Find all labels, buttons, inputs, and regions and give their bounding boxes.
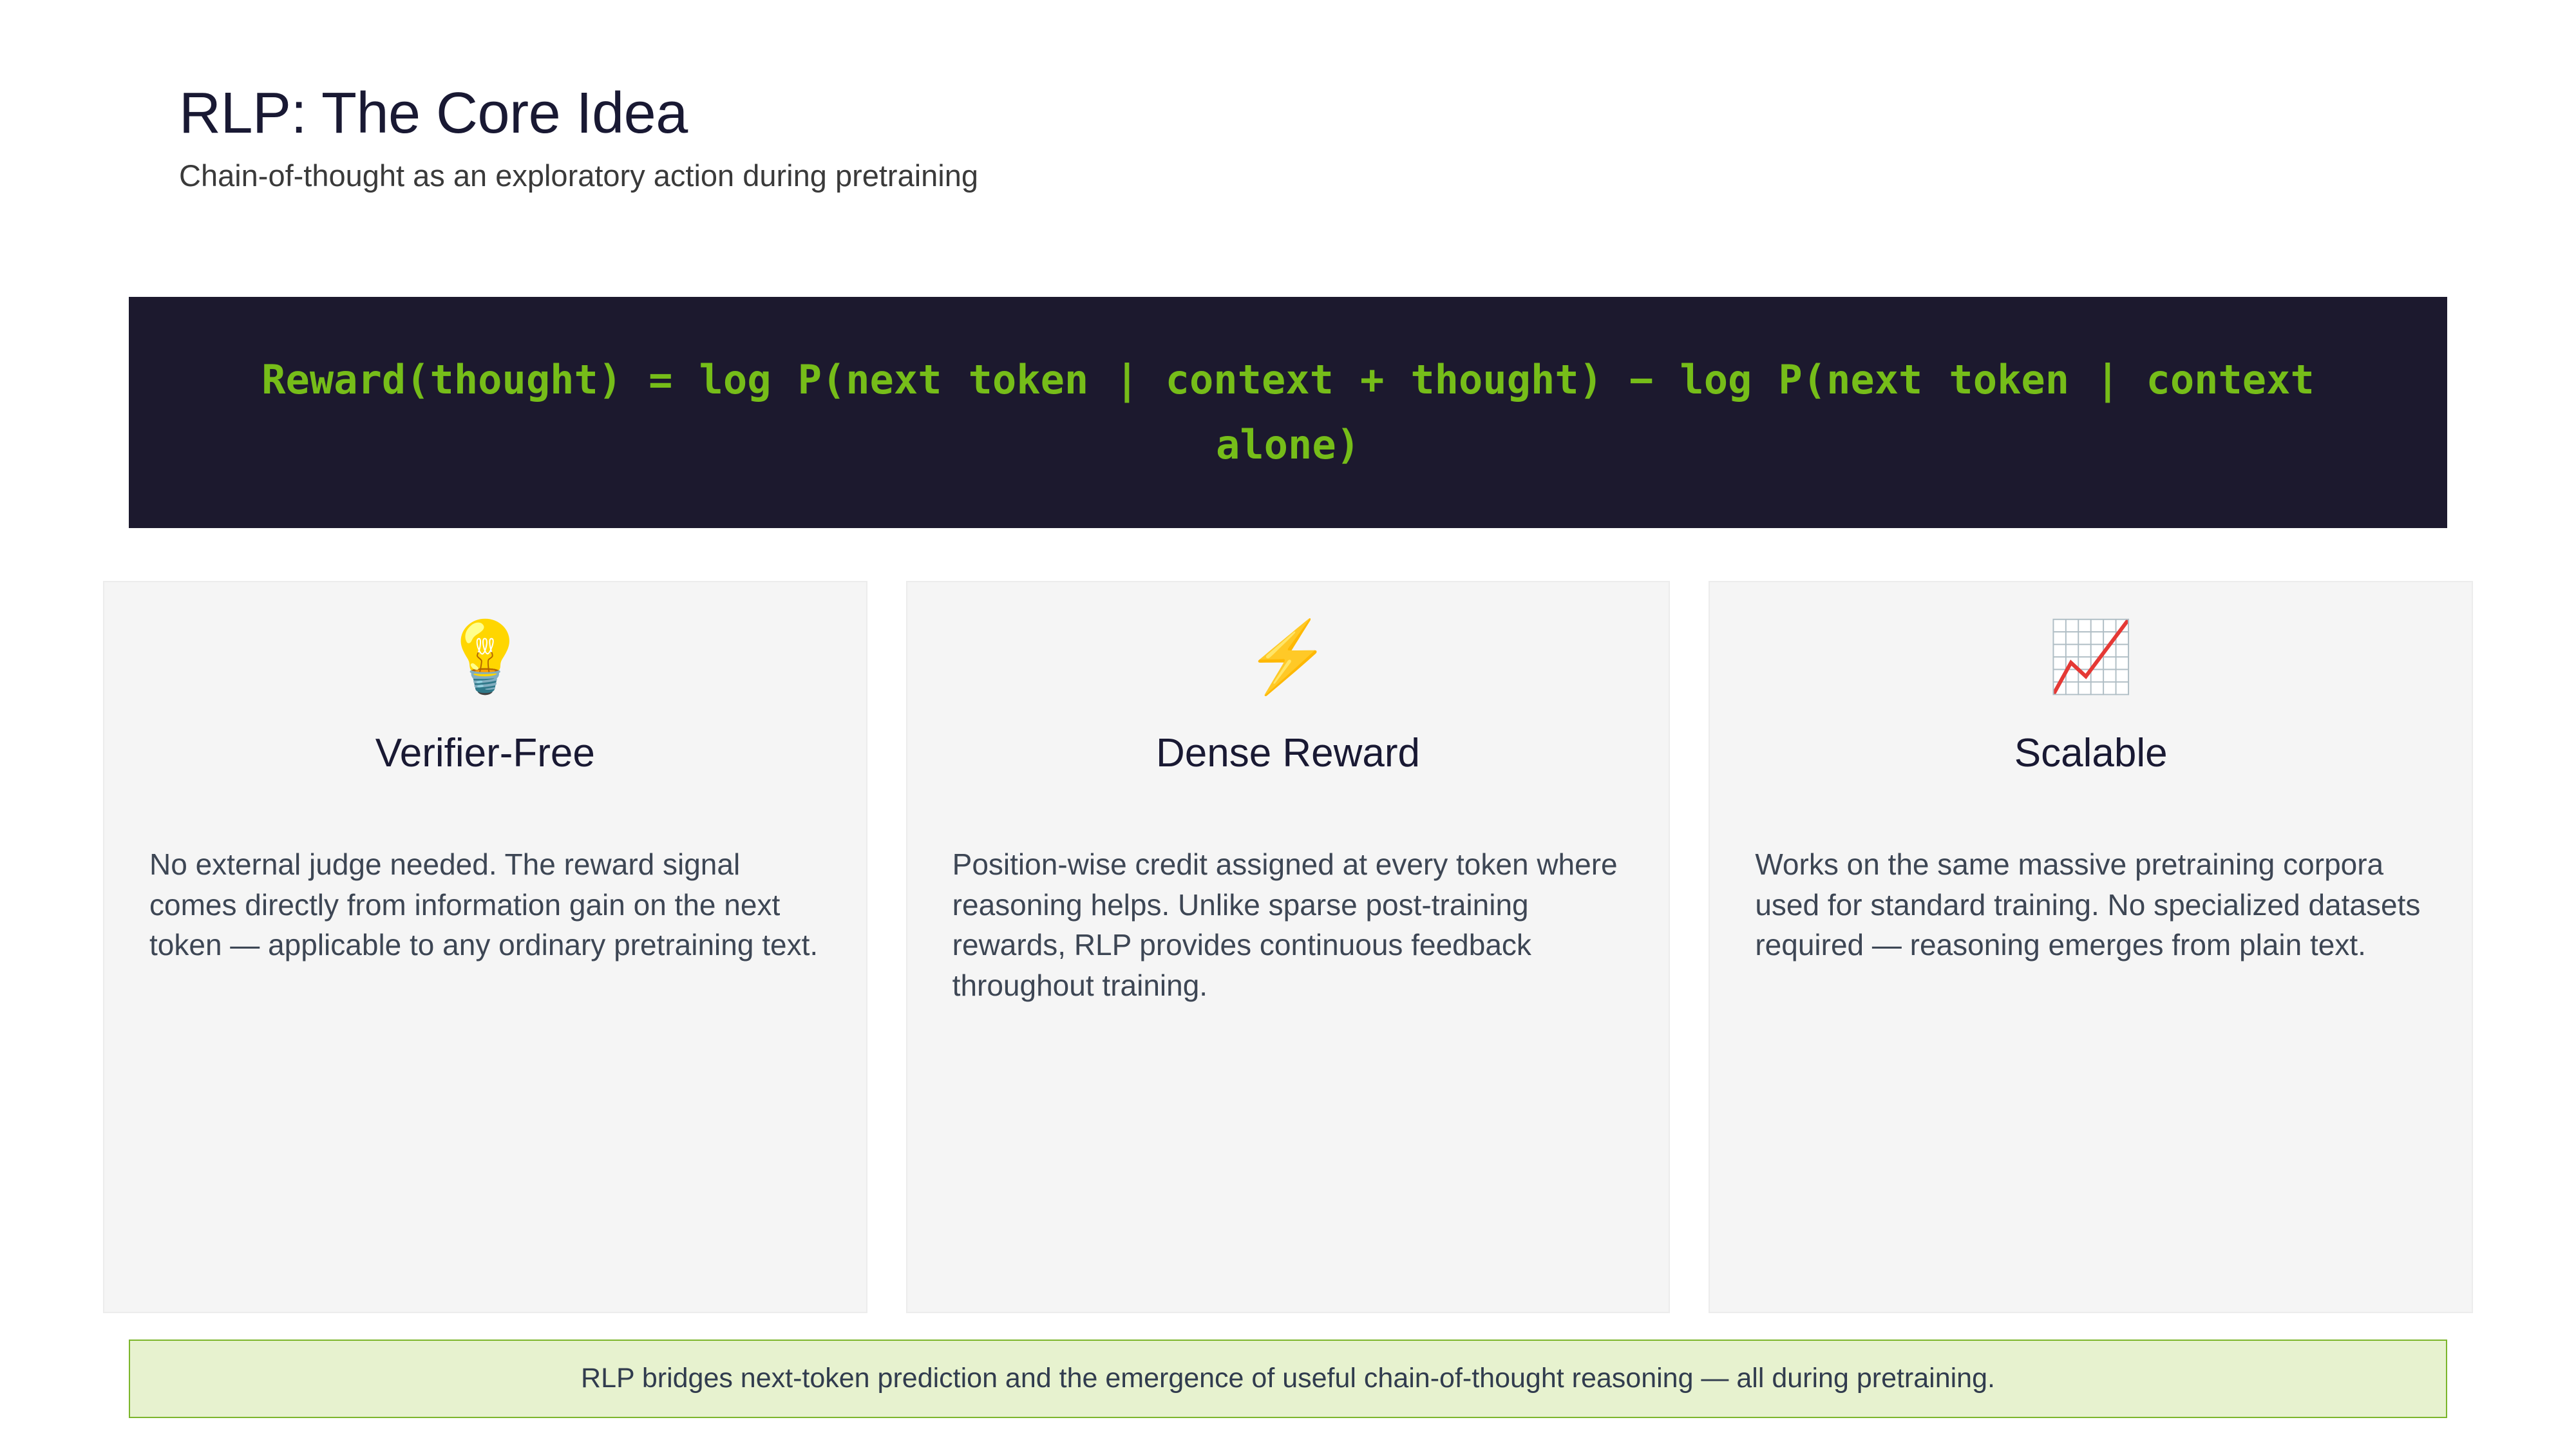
feature-card-body: Works on the same massive pretraining co… <box>1755 844 2427 965</box>
page-subtitle: Chain-of-thought as an exploratory actio… <box>179 158 2433 194</box>
light-bulb-icon: 💡 <box>442 622 528 699</box>
page-title: RLP: The Core Idea <box>179 82 2433 145</box>
feature-card-title: Verifier-Free <box>375 730 595 776</box>
feature-card-verifier-free[interactable]: 💡 Verifier-Free No external judge needed… <box>103 581 867 1313</box>
feature-card-body: No external judge needed. The reward sig… <box>149 844 821 965</box>
slide-header: RLP: The Core Idea Chain-of-thought as a… <box>179 82 2433 194</box>
high-voltage-icon: ⚡ <box>1245 622 1331 699</box>
feature-card-scalable[interactable]: 📈 Scalable Works on the same massive pre… <box>1709 581 2473 1313</box>
chart-increasing-icon: 📈 <box>2047 622 2134 699</box>
feature-card-title: Scalable <box>2014 730 2168 776</box>
summary-banner: RLP bridges next-token prediction and th… <box>129 1340 2447 1418</box>
summary-banner-text: RLP bridges next-token prediction and th… <box>581 1362 1995 1396</box>
feature-card-title: Dense Reward <box>1156 730 1420 776</box>
feature-card-body: Position-wise credit assigned at every t… <box>952 844 1624 1005</box>
feature-card-dense-reward[interactable]: ⚡ Dense Reward Position-wise credit assi… <box>906 581 1671 1313</box>
reward-formula-text: Reward(thought) = log P(next token | con… <box>219 348 2357 477</box>
feature-cards-row: 💡 Verifier-Free No external judge needed… <box>103 581 2473 1313</box>
formula-block: Reward(thought) = log P(next token | con… <box>129 297 2447 528</box>
